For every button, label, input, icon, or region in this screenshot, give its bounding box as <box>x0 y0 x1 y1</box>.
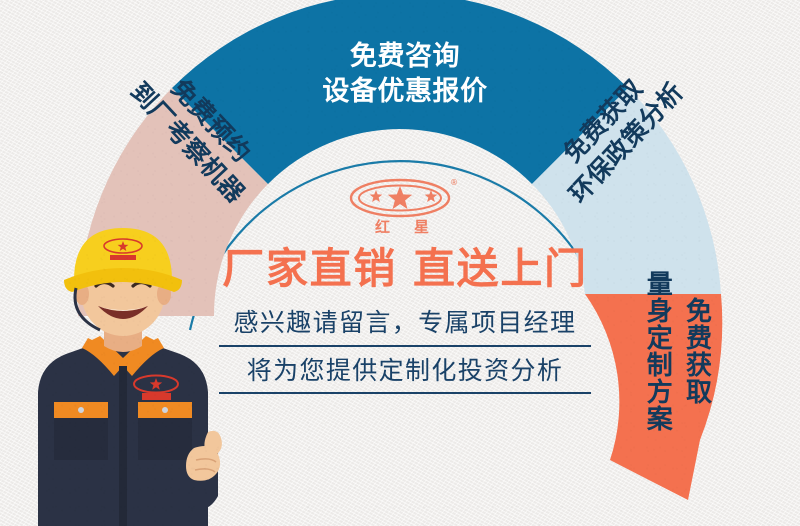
logo-brand-left: 红 <box>375 218 390 236</box>
registered-mark-icon: ® <box>450 178 458 187</box>
subline-2: 将为您提供定制化投资分析 <box>196 347 614 391</box>
logo-brand-right: 星 <box>414 218 429 236</box>
promo-banner: 免费预约 到厂考察机器 免费咨询 设备优惠报价 免费获取 环保政策分析 免费获取… <box>0 0 800 526</box>
divider-bottom <box>219 392 591 394</box>
headline: 厂家直销直送上门 <box>196 246 614 292</box>
logo-mark: ® 红 星 <box>342 176 468 238</box>
subline-1: 感兴趣请留言，专属项目经理 <box>196 310 614 345</box>
headline-part2: 直送上门 <box>413 244 588 293</box>
hongxing-logo: ® 红 星 <box>342 176 468 238</box>
headline-part1: 厂家直销 <box>222 244 397 293</box>
center-content: ® 红 星 厂家直销直送上门 感兴趣请留言，专属项目经理 将为您提供定制化投资分… <box>196 176 614 446</box>
